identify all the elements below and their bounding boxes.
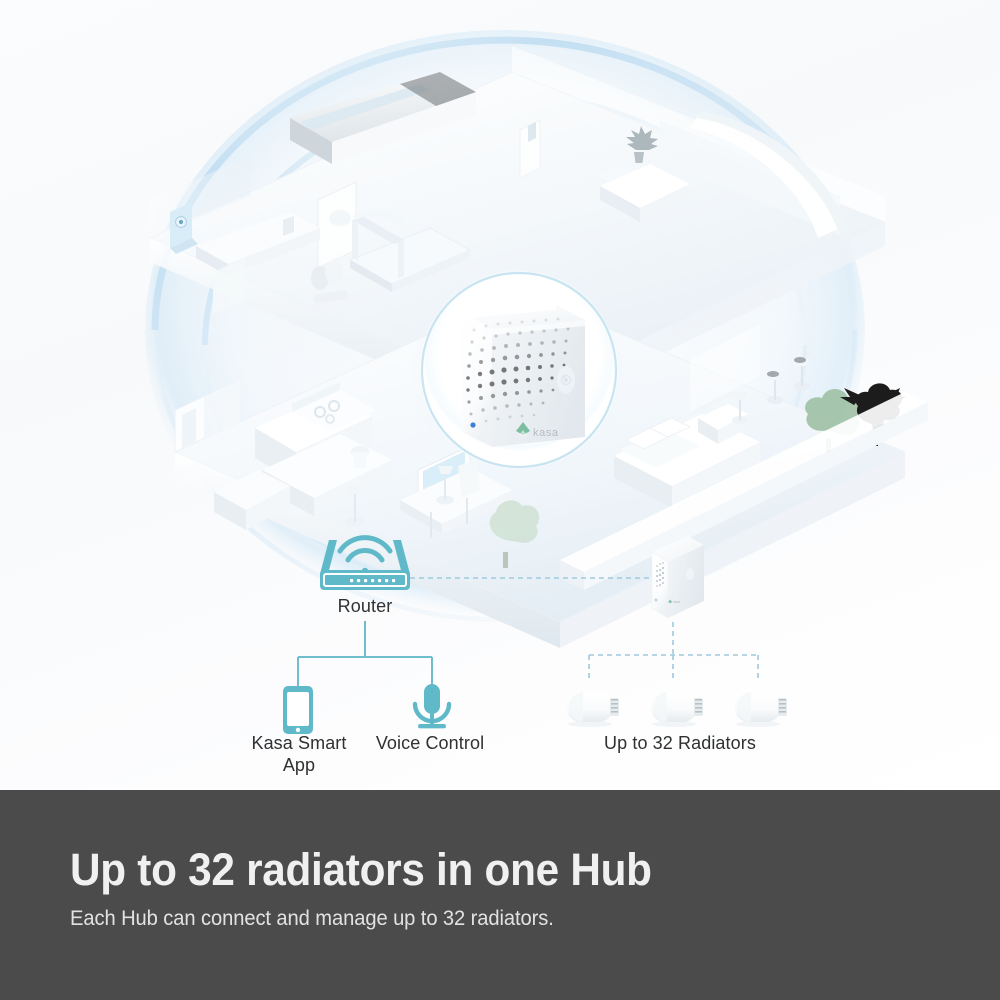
radiators-label: Up to 32 Radiators	[565, 733, 795, 755]
radiator-valve-icon	[651, 692, 703, 727]
radiator-valve-icon	[567, 692, 619, 727]
smartphone-icon[interactable]	[283, 686, 313, 734]
svg-text:kasa: kasa	[673, 600, 680, 604]
router-label: Router	[285, 596, 445, 618]
microphone-icon[interactable]	[415, 684, 449, 728]
kasa-smart-hub: kasa	[462, 305, 585, 447]
product-infographic: kasa	[0, 0, 1000, 1000]
kasa-smart-app-label: Kasa Smart App	[225, 733, 373, 777]
router-branch-lines	[298, 621, 432, 686]
isometric-house-scene: kasa	[0, 0, 1000, 790]
status-led	[470, 422, 475, 427]
voice-control-label: Voice Control	[360, 733, 500, 755]
feature-banner: Up to 32 radiators in one Hub Each Hub c…	[0, 790, 1000, 1000]
svg-text:kasa: kasa	[533, 427, 559, 439]
hub-branch-lines	[589, 622, 758, 678]
smart-home-illustration: kasa	[0, 0, 1000, 790]
radiator-valve-icon	[735, 692, 787, 727]
banner-headline: Up to 32 radiators in one Hub	[70, 844, 652, 896]
banner-subtext: Each Hub can connect and manage up to 32…	[70, 907, 554, 931]
